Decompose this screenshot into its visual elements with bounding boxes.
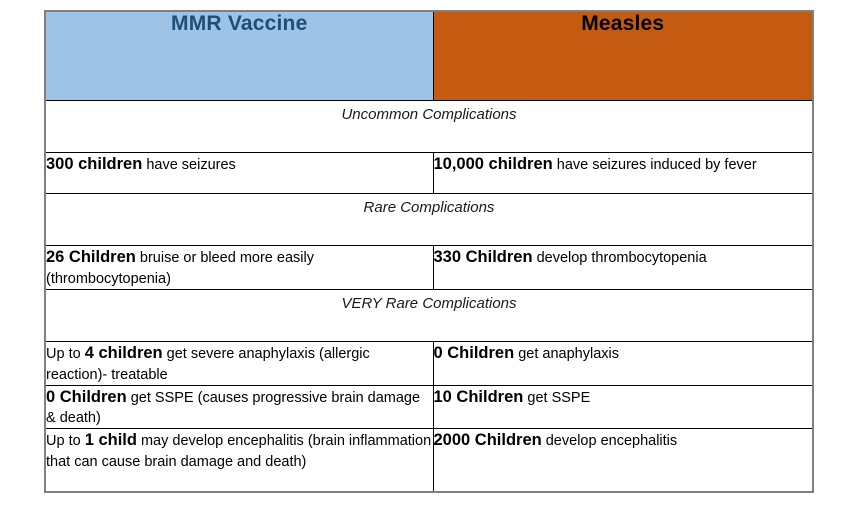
cell-vaccine-encephalitis: Up to 1 child may develop encephalitis (… [45, 429, 433, 493]
cell-description: have seizures [142, 157, 236, 173]
cell-description: get SSPE [523, 390, 590, 406]
cell-description: develop encephalitis [542, 433, 677, 449]
cell-figure: 330 Children [434, 248, 533, 266]
page-canvas: MMR Vaccine Measles Uncommon Complicatio… [0, 0, 860, 520]
cell-vaccine-seizures: 300 children have seizures [45, 153, 433, 194]
cell-figure: 4 children [85, 344, 163, 362]
cell-vaccine-sspe: 0 Children get SSPE (causes progressive … [45, 385, 433, 429]
section-header-row-uncommon: Uncommon Complications [45, 101, 813, 153]
cell-description: develop thrombocytopenia [533, 250, 707, 266]
cell-figure: 10 Children [434, 388, 524, 406]
cell-lead-text: Up to [46, 346, 85, 362]
cell-vaccine-thrombocytopenia: 26 Children bruise or bleed more easily … [45, 246, 433, 290]
section-header-row-very-rare: VERY Rare Complications [45, 289, 813, 341]
cell-figure: 300 children [46, 155, 142, 173]
cell-vaccine-anaphylaxis: Up to 4 children get severe anaphylaxis … [45, 341, 433, 385]
section-title-very-rare-complications: VERY Rare Complications [45, 289, 813, 341]
cell-description: have seizures induced by fever [553, 157, 757, 173]
section-title-rare-complications: Rare Complications [45, 194, 813, 246]
table-row-sspe: 0 Children get SSPE (causes progressive … [45, 385, 813, 429]
column-header-mmr-vaccine: MMR Vaccine [45, 11, 433, 101]
table-row-anaphylaxis: Up to 4 children get severe anaphylaxis … [45, 341, 813, 385]
cell-measles-thrombocytopenia: 330 Children develop thrombocytopenia [433, 246, 813, 290]
table-row-encephalitis: Up to 1 child may develop encephalitis (… [45, 429, 813, 493]
table-row-seizures: 300 children have seizures 10,000 childr… [45, 153, 813, 194]
mmr-vs-measles-comparison-table: MMR Vaccine Measles Uncommon Complicatio… [44, 10, 814, 493]
cell-figure: 26 Children [46, 248, 136, 266]
cell-lead-text: Up to [46, 433, 85, 449]
cell-figure: 10,000 children [434, 155, 553, 173]
cell-measles-anaphylaxis: 0 Children get anaphylaxis [433, 341, 813, 385]
section-header-row-rare: Rare Complications [45, 194, 813, 246]
cell-measles-sspe: 10 Children get SSPE [433, 385, 813, 429]
section-title-uncommon-complications: Uncommon Complications [45, 101, 813, 153]
cell-measles-encephalitis: 2000 Children develop encephalitis [433, 429, 813, 493]
table-header-row: MMR Vaccine Measles [45, 11, 813, 101]
cell-measles-seizures: 10,000 children have seizures induced by… [433, 153, 813, 194]
column-header-measles: Measles [433, 11, 813, 101]
cell-description: get anaphylaxis [514, 346, 619, 362]
cell-figure: 1 child [85, 431, 137, 449]
cell-figure: 0 Children [434, 344, 515, 362]
cell-figure: 0 Children [46, 388, 127, 406]
cell-figure: 2000 Children [434, 431, 542, 449]
table-row-thrombocytopenia: 26 Children bruise or bleed more easily … [45, 246, 813, 290]
